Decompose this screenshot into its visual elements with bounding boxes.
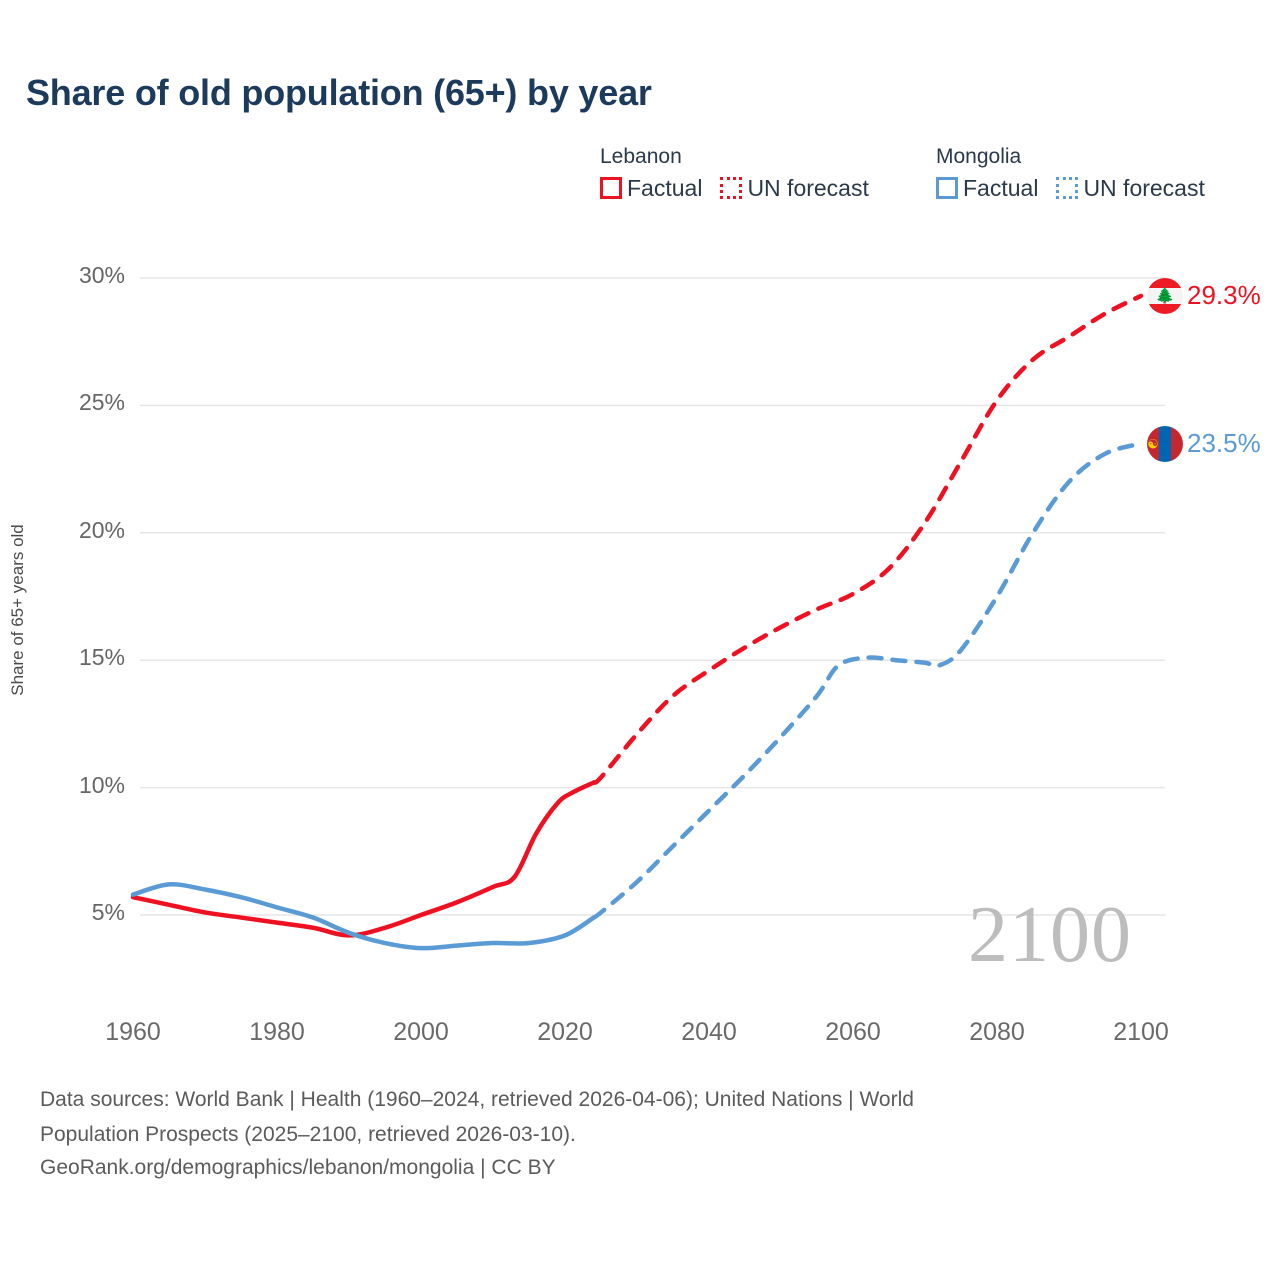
data-series-layer <box>133 296 1141 948</box>
end-value-lebanon: 29.3% <box>1187 280 1261 311</box>
series-line-mongolia-forecast <box>594 444 1141 918</box>
footer-sources-line1: Data sources: World Bank | Health (1960–… <box>40 1083 1220 1116</box>
x-tick-label: 2000 <box>371 1018 471 1047</box>
x-tick-label: 2040 <box>659 1018 759 1047</box>
series-line-lebanon-forecast <box>594 296 1141 783</box>
footer-attribution[interactable]: GeoRank.org/demographics/lebanon/mongoli… <box>40 1151 1220 1184</box>
y-tick-label: 15% <box>45 644 125 671</box>
y-tick-label: 25% <box>45 389 125 416</box>
chart-page: Share of old population (65+) by year Le… <box>0 0 1280 1280</box>
y-tick-label: 5% <box>45 899 125 926</box>
series-line-mongolia-factual <box>133 884 594 948</box>
x-tick-label: 1960 <box>83 1018 183 1047</box>
x-tick-label: 2100 <box>1091 1018 1191 1047</box>
x-tick-label: 1980 <box>227 1018 327 1047</box>
x-tick-label: 2060 <box>803 1018 903 1047</box>
end-value-mongolia: 23.5% <box>1187 428 1261 459</box>
end-marker-mongolia: ☯ 23.5% <box>1147 426 1261 462</box>
x-tick-label: 2020 <box>515 1018 615 1047</box>
end-marker-lebanon: 🌲 29.3% <box>1147 278 1261 314</box>
chart-footer: Data sources: World Bank | Health (1960–… <box>40 1083 1220 1184</box>
footer-sources-line2: Population Prospects (2025–2100, retriev… <box>40 1118 1220 1151</box>
y-tick-label: 10% <box>45 772 125 799</box>
series-line-lebanon-factual <box>133 783 594 936</box>
x-tick-label: 2080 <box>947 1018 1047 1047</box>
year-watermark: 2100 <box>968 890 1132 981</box>
y-tick-label: 30% <box>45 262 125 289</box>
plot-area: Share of 65+ years old 5%10%15%20%25%30%… <box>0 0 1280 1060</box>
lebanon-flag-icon: 🌲 <box>1147 278 1183 314</box>
mongolia-flag-icon: ☯ <box>1147 426 1183 462</box>
gridlines <box>140 278 1165 915</box>
y-tick-label: 20% <box>45 517 125 544</box>
